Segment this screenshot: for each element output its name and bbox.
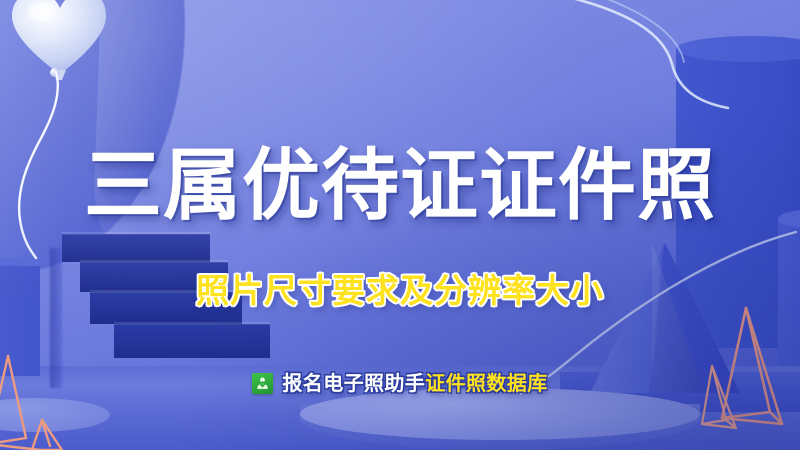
footer-brand-yellow: 证件照数据库	[425, 373, 547, 395]
person-download-icon	[252, 373, 273, 394]
page-title: 三属优待证证件照	[0, 146, 800, 224]
page-subtitle: 照片尺寸要求及分辨率大小	[0, 274, 800, 307]
footer-brand-white: 报名电子照助手	[282, 373, 425, 395]
footer-brand-row: 报名电子照助手证件照数据库	[0, 373, 800, 394]
poster-canvas: 三属优待证证件照 照片尺寸要求及分辨率大小 报名电子照助手证件照数据库	[0, 0, 800, 450]
poster-text-block: 三属优待证证件照 照片尺寸要求及分辨率大小 报名电子照助手证件照数据库	[0, 0, 800, 450]
footer-brand-text: 报名电子照助手证件照数据库	[282, 374, 547, 394]
